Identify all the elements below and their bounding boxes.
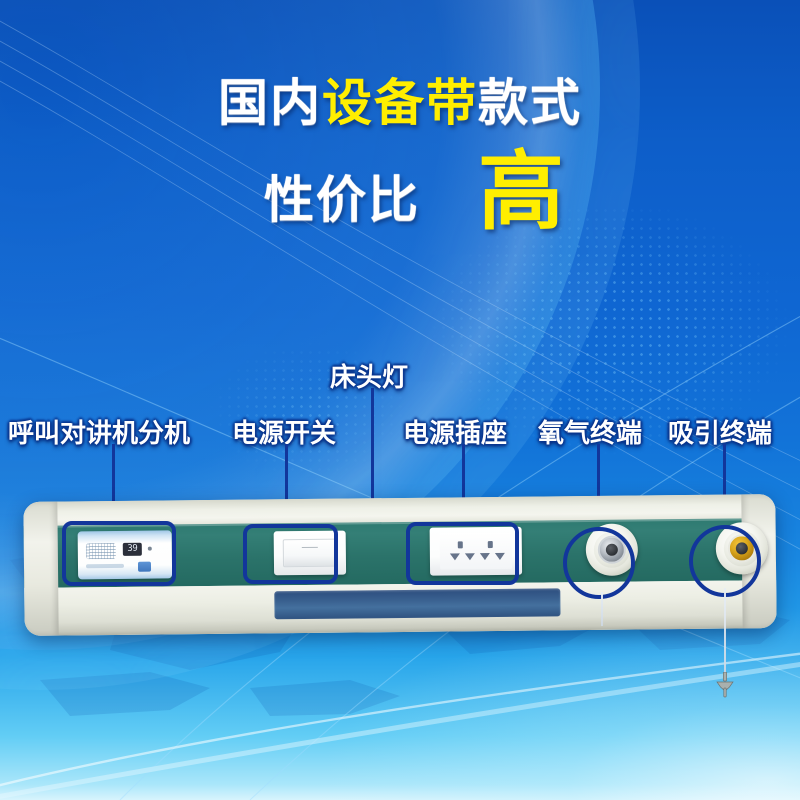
rocker-paddle[interactable] [283,539,337,568]
pull-cord-hook-icon[interactable] [716,672,734,698]
socket-pin-hole [465,553,475,560]
headline-line-1: 国内设备带款式 [0,78,800,128]
terminal-port-icon [606,544,618,556]
panel-endcap-left [23,502,58,636]
rocker-mark-icon [302,547,318,548]
intercom-slot [86,564,124,568]
socket-pin-hole [458,541,463,548]
bed-head-unit-panel: 39 [23,494,776,636]
pull-cord-suction[interactable] [724,588,726,676]
oxygen-terminal-inner [598,536,626,564]
callout-label-power-switch: 电源开关 [232,413,336,450]
headline-part-domestic: 国内 [218,74,322,132]
headline-line-2: 性价比 高 [0,150,800,227]
socket-pin-hole [495,553,505,560]
panel-body: 39 [23,494,776,636]
callout-label-suction: 吸引终端 [668,413,772,450]
oxygen-terminal-device[interactable] [586,524,639,577]
power-socket-device[interactable] [430,527,522,576]
headline-block: 国内设备带款式 性价比 高 [0,78,800,227]
suction-terminal-inner [728,534,756,562]
panel-slate-insert [274,588,560,619]
headline-part-style: 款式 [478,74,582,132]
socket-pin-hole [488,541,493,548]
pull-cord-oxygen [601,592,603,626]
speaker-grille-icon [86,543,116,559]
socket-pin-hole [450,553,460,560]
callout-label-bed-lamp: 床头灯 [330,357,408,394]
power-switch-device[interactable] [274,531,346,576]
terminal-port-icon [736,542,748,554]
socket-faceplate [440,533,512,570]
headline-part-value: 性价比 [264,175,420,225]
headline-part-high: 高 [478,154,566,231]
nurse-call-intercom[interactable]: 39 [78,530,172,579]
indicator-led-icon [148,547,152,551]
socket-pin-hole [480,553,490,560]
callout-label-intercom: 呼叫对讲机分机 [8,413,190,450]
callout-label-oxygen: 氧气终端 [538,413,642,450]
product-banner: 国内设备带款式 性价比 高 呼叫对讲机分机 电源开关 床头灯 电源插座 氧气终端… [0,0,800,800]
callout-label-power-socket: 电源插座 [403,413,507,450]
intercom-display: 39 [123,543,142,556]
intercom-call-button[interactable] [138,562,151,572]
headline-part-equipment-belt: 设备带 [322,74,478,132]
suction-terminal-device[interactable] [716,522,769,575]
